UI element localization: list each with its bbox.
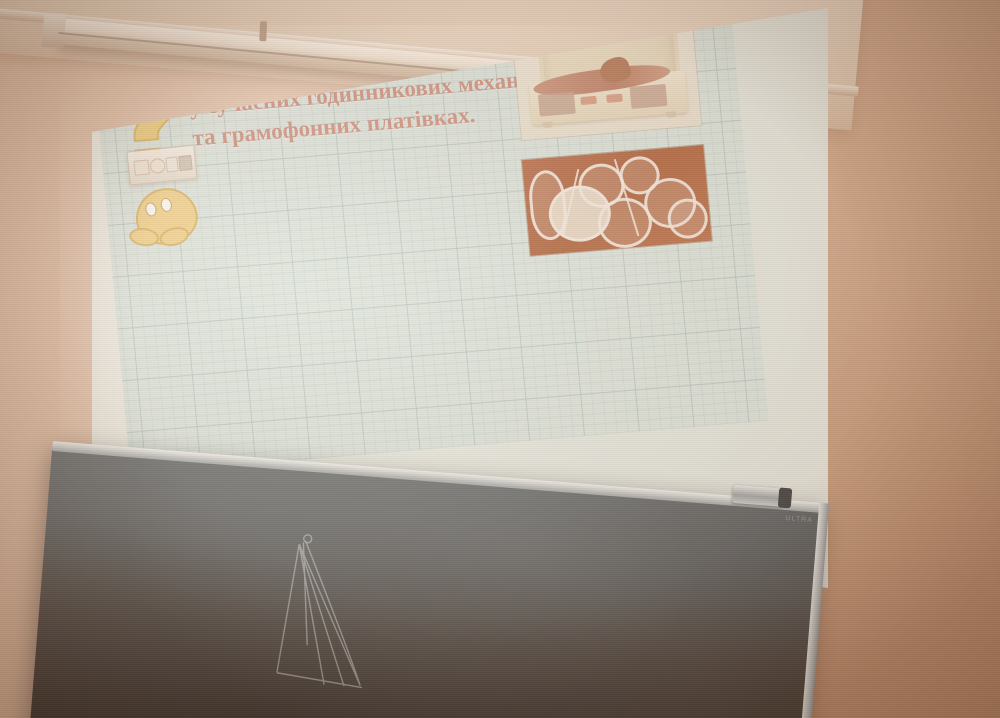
- blind-bracket: [259, 21, 267, 41]
- turntable-foot-left: [542, 122, 553, 129]
- wall-switch-panel[interactable]: [126, 145, 197, 186]
- clock-mechanism-photo: [522, 145, 712, 256]
- turntable-knob-1: [580, 96, 597, 105]
- turntable-speaker-left: [538, 92, 576, 117]
- blind-endcap: [41, 13, 66, 47]
- switch-button-2[interactable]: [149, 158, 165, 174]
- turntable-knob-2: [606, 94, 623, 103]
- classroom-photo: Правда чи вигадка? Архімедова спіраль ви…: [0, 0, 1000, 718]
- gear-icon-sixth: [666, 197, 709, 240]
- switch-button-1[interactable]: [133, 159, 149, 175]
- switch-button-3[interactable]: [165, 156, 179, 172]
- socket-outlet[interactable]: [178, 155, 192, 171]
- turntable-speaker-right: [630, 84, 668, 109]
- turntable-foot-right: [666, 111, 677, 118]
